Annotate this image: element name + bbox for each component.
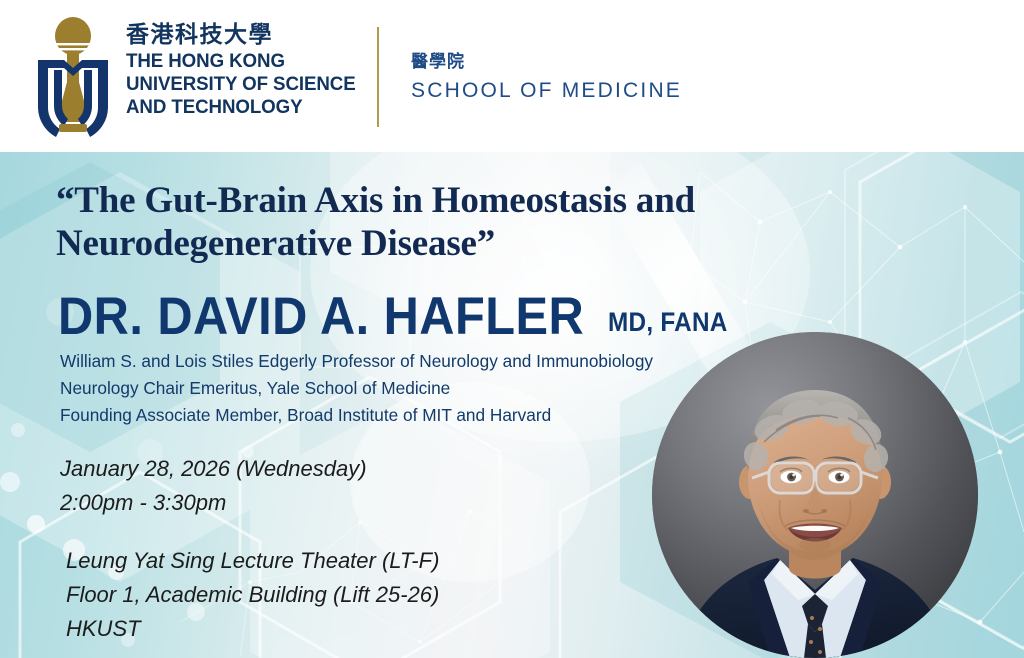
affiliation-line-3: Founding Associate Member, Broad Institu… <box>60 402 653 429</box>
venue-line-3: HKUST <box>66 612 439 646</box>
poster-header: 香港科技大學 THE HONG KONG UNIVERSITY OF SCIEN… <box>0 0 1024 152</box>
poster-content: “The Gut-Brain Axis in Homeostasis and N… <box>0 152 1024 658</box>
event-date: January 28, 2026 (Wednesday) <box>60 452 367 486</box>
event-time: 2:00pm - 3:30pm <box>60 486 367 520</box>
university-name-en-line3: AND TECHNOLOGY <box>126 96 356 119</box>
affiliation-line-1: William S. and Lois Stiles Edgerly Profe… <box>60 348 653 375</box>
school-name-cn: 醫學院 <box>411 52 682 72</box>
speaker-credentials: MD, FANA <box>608 307 728 338</box>
university-name-en: THE HONG KONG UNIVERSITY OF SCIENCE AND … <box>126 50 365 118</box>
school-of-medicine-lockup: 醫學院 SCHOOL OF MEDICINE <box>411 52 682 105</box>
university-name-en-line1: THE HONG KONG <box>126 50 356 73</box>
talk-title: “The Gut-Brain Axis in Homeostasis and N… <box>56 180 986 266</box>
header-vertical-divider <box>377 27 379 127</box>
venue-line-2: Floor 1, Academic Building (Lift 25-26) <box>66 578 439 612</box>
hkust-logo-icon <box>34 16 112 138</box>
speaker-portrait <box>652 332 978 658</box>
hkust-wordmark: 香港科技大學 THE HONG KONG UNIVERSITY OF SCIEN… <box>126 16 365 119</box>
event-venue: Leung Yat Sing Lecture Theater (LT-F) Fl… <box>66 544 439 646</box>
hkust-logo-lockup: 香港科技大學 THE HONG KONG UNIVERSITY OF SCIEN… <box>34 16 365 138</box>
affiliation-line-2: Neurology Chair Emeritus, Yale School of… <box>60 375 653 402</box>
speaker-name: DR. DAVID A. HAFLER <box>58 286 584 347</box>
event-datetime: January 28, 2026 (Wednesday) 2:00pm - 3:… <box>60 452 367 520</box>
speaker-name-line: DR. DAVID A. HAFLERMD, FANA <box>58 286 741 347</box>
speaker-affiliations: William S. and Lois Stiles Edgerly Profe… <box>60 348 662 428</box>
university-name-cn: 香港科技大學 <box>126 22 365 48</box>
seminar-poster: 香港科技大學 THE HONG KONG UNIVERSITY OF SCIEN… <box>0 0 1024 658</box>
university-name-en-line2: UNIVERSITY OF SCIENCE <box>126 73 356 96</box>
school-name-en: SCHOOL OF MEDICINE <box>411 78 682 104</box>
venue-line-1: Leung Yat Sing Lecture Theater (LT-F) <box>66 544 439 578</box>
